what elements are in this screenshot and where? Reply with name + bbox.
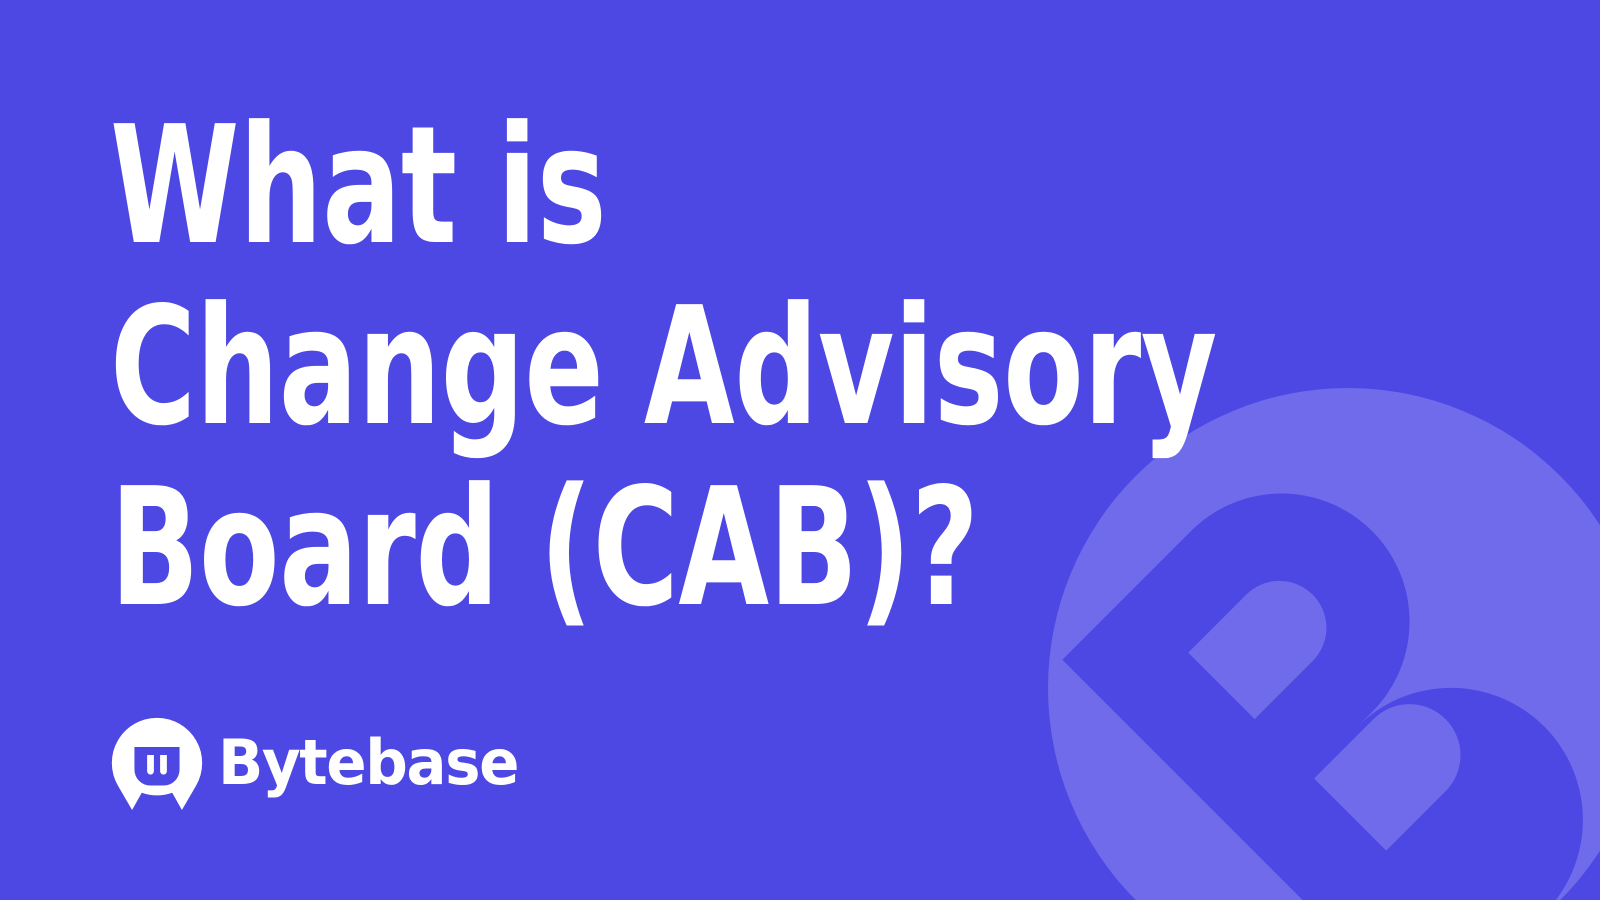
- brand-lockup: Bytebase: [110, 716, 531, 810]
- headline-line-2: Change Advisory: [110, 277, 958, 458]
- headline-line-1: What is: [110, 96, 958, 277]
- cover-card: What is Change Advisory Board (CAB)? Byt…: [0, 0, 1600, 900]
- headline-line-3: Board (CAB)?: [110, 458, 958, 639]
- brand-wordmark: Bytebase: [218, 732, 518, 794]
- bytebase-logo-icon: [110, 716, 204, 810]
- page-title: What is Change Advisory Board (CAB)?: [110, 96, 1170, 639]
